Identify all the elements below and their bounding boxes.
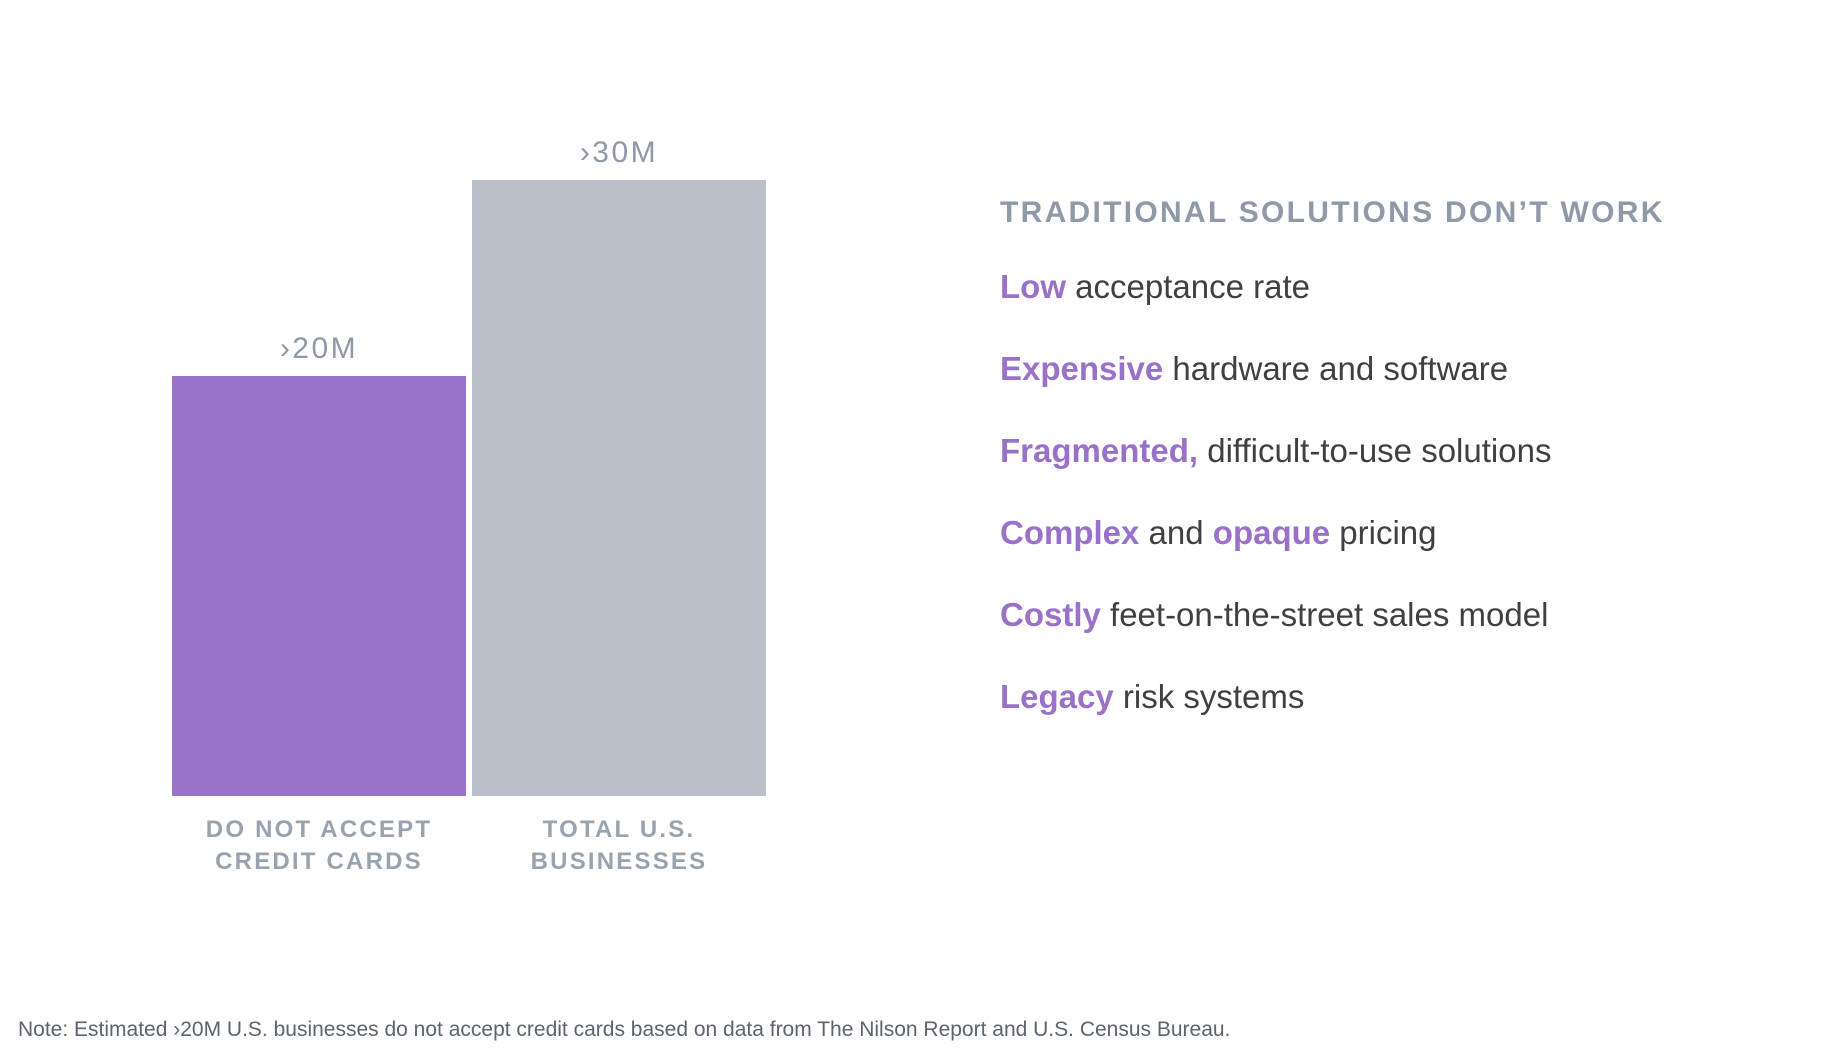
bar-chart: ›20M DO NOT ACCEPT CREDIT CARDS ›30M TOT…: [0, 0, 900, 990]
bar-total-us-businesses: ›30M TOTAL U.S. BUSINESSES: [472, 180, 766, 796]
point-rest-text: hardware and software: [1163, 350, 1508, 387]
point-second-highlight-word: opaque: [1213, 514, 1330, 551]
point-lead-word: Costly: [1000, 596, 1101, 633]
traditional-solutions-panel: TRADITIONAL SOLUTIONS DON’T WORK Low acc…: [1000, 196, 1790, 713]
point-item: Fragmented, difficult-to-use solutions: [1000, 434, 1790, 467]
point-item: Low acceptance rate: [1000, 270, 1790, 303]
bar-category-label: TOTAL U.S. BUSINESSES: [412, 814, 826, 877]
point-rest-text: acceptance rate: [1066, 268, 1310, 305]
point-rest-text: risk systems: [1114, 678, 1305, 715]
points-heading: TRADITIONAL SOLUTIONS DON’T WORK: [1000, 196, 1790, 230]
point-item: Costly feet-on-the-street sales model: [1000, 598, 1790, 631]
bar-value-label: ›30M: [472, 136, 766, 170]
bar-rect-gray: [472, 180, 766, 796]
point-rest-text: pricing: [1330, 514, 1436, 551]
point-mid-text: and: [1139, 514, 1212, 551]
point-rest-text: difficult-to-use solutions: [1198, 432, 1551, 469]
point-item: Legacy risk systems: [1000, 680, 1790, 713]
point-lead-word: Low: [1000, 268, 1066, 305]
bar-rect-purple: [172, 376, 466, 796]
bar-do-not-accept-credit-cards: ›20M DO NOT ACCEPT CREDIT CARDS: [172, 376, 466, 796]
point-lead-word: Fragmented,: [1000, 432, 1198, 469]
point-rest-text: feet-on-the-street sales model: [1101, 596, 1549, 633]
bar-value-label: ›20M: [172, 332, 466, 366]
point-lead-word: Complex: [1000, 514, 1139, 551]
point-lead-word: Expensive: [1000, 350, 1163, 387]
footnote-text: Note: Estimated ›20M U.S. businesses do …: [18, 1018, 1230, 1042]
point-item: Expensive hardware and software: [1000, 352, 1790, 385]
point-lead-word: Legacy: [1000, 678, 1114, 715]
point-item: Complex and opaque pricing: [1000, 516, 1790, 549]
